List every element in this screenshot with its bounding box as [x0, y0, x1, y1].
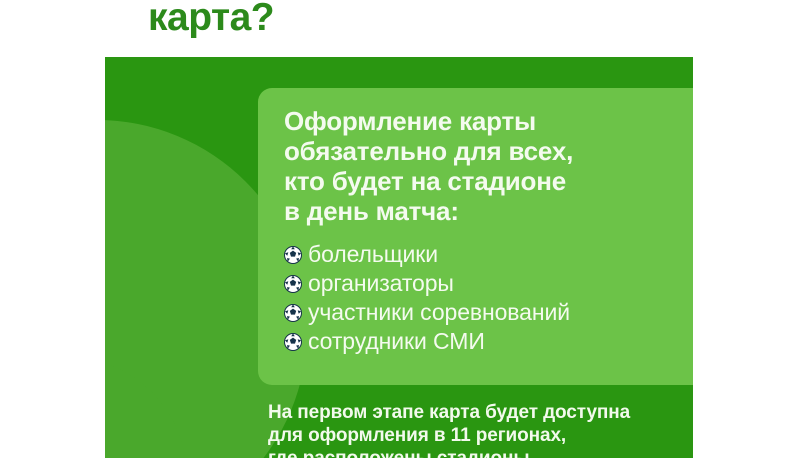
card-lede-line-2: обязательно для всех,	[284, 136, 693, 166]
list-item: сотрудники СМИ	[284, 327, 693, 356]
poster-panel: Оформление карты обязательно для всех, к…	[105, 57, 693, 458]
list-item-label: сотрудники СМИ	[308, 327, 485, 356]
card-lede-line-3: кто будет на стадионе	[284, 166, 693, 196]
list-item: организаторы	[284, 269, 693, 298]
soccer-ball-icon	[284, 246, 302, 264]
soccer-ball-icon	[284, 304, 302, 322]
page-title: карта?	[148, 0, 274, 40]
footnote-line-1: На первом этапе карта будет доступна	[268, 401, 693, 424]
footnote-line-3: где расположены стадионы	[268, 447, 693, 458]
info-card: Оформление карты обязательно для всех, к…	[258, 88, 693, 385]
card-lede-line-1: Оформление карты	[284, 106, 693, 136]
footnote-line-2: для оформления в 11 регионах,	[268, 424, 693, 447]
audience-list: болельщики организаторы	[284, 240, 693, 356]
list-item-label: болельщики	[308, 240, 438, 269]
card-lede: Оформление карты обязательно для всех, к…	[284, 106, 693, 226]
card-lede-line-4: в день матча:	[284, 196, 693, 226]
list-item: болельщики	[284, 240, 693, 269]
footnote-paragraph: На первом этапе карта будет доступна для…	[268, 401, 693, 458]
list-item: участники соревнований	[284, 298, 693, 327]
list-item-label: организаторы	[308, 269, 454, 298]
list-item-label: участники соревнований	[308, 298, 570, 327]
soccer-ball-icon	[284, 275, 302, 293]
soccer-ball-icon	[284, 333, 302, 351]
